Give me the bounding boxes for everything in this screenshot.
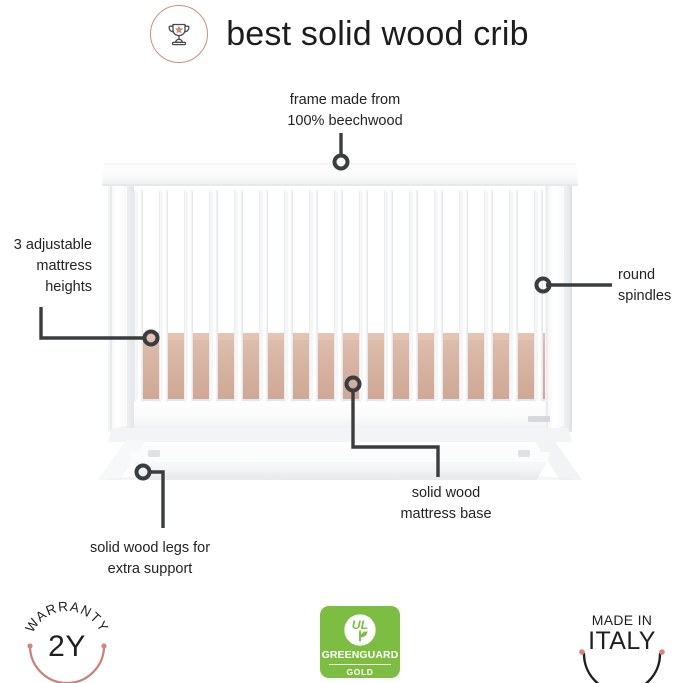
callout-label-solid-wood-legs: solid wood legs for extra support	[64, 538, 236, 580]
warranty-value: 2Y	[8, 630, 126, 664]
made-in-arc	[584, 654, 660, 683]
made-in-italy-badge: MADE IN ITALY	[566, 598, 678, 683]
greenguard-name: GREENGUARD	[322, 650, 399, 661]
product-image-crib	[90, 150, 590, 480]
infographic-canvas: best solid wood crib	[0, 0, 679, 683]
made-in-dot-right	[659, 649, 665, 655]
callout-label-mattress-base: solid wood mattress base	[376, 483, 516, 525]
greenguard-divider	[329, 664, 391, 665]
certification-badge-row: WARRANTY 2Y UL GREENGUARD GOLD MADE	[0, 596, 679, 683]
warranty-badge: WARRANTY 2Y	[8, 598, 126, 683]
connector-solid-wood-legs	[148, 472, 163, 528]
callout-label-round-spindles: round spindles	[618, 265, 679, 307]
page-title: best solid wood crib	[226, 17, 529, 51]
greenguard-gold-badge: UL GREENGUARD GOLD	[320, 606, 400, 678]
header: best solid wood crib	[0, 0, 679, 68]
trophy-icon	[150, 5, 208, 63]
ul-mark-text: UL	[352, 618, 368, 632]
callout-label-mattress-heights: 3 adjustable mattress heights	[0, 235, 92, 298]
ul-logo-icon: UL	[341, 611, 379, 649]
greenguard-tier: GOLD	[347, 668, 374, 677]
callout-label-frame-beechwood: frame made from 100% beechwood	[258, 90, 432, 132]
made-in-dot-left	[579, 649, 585, 655]
